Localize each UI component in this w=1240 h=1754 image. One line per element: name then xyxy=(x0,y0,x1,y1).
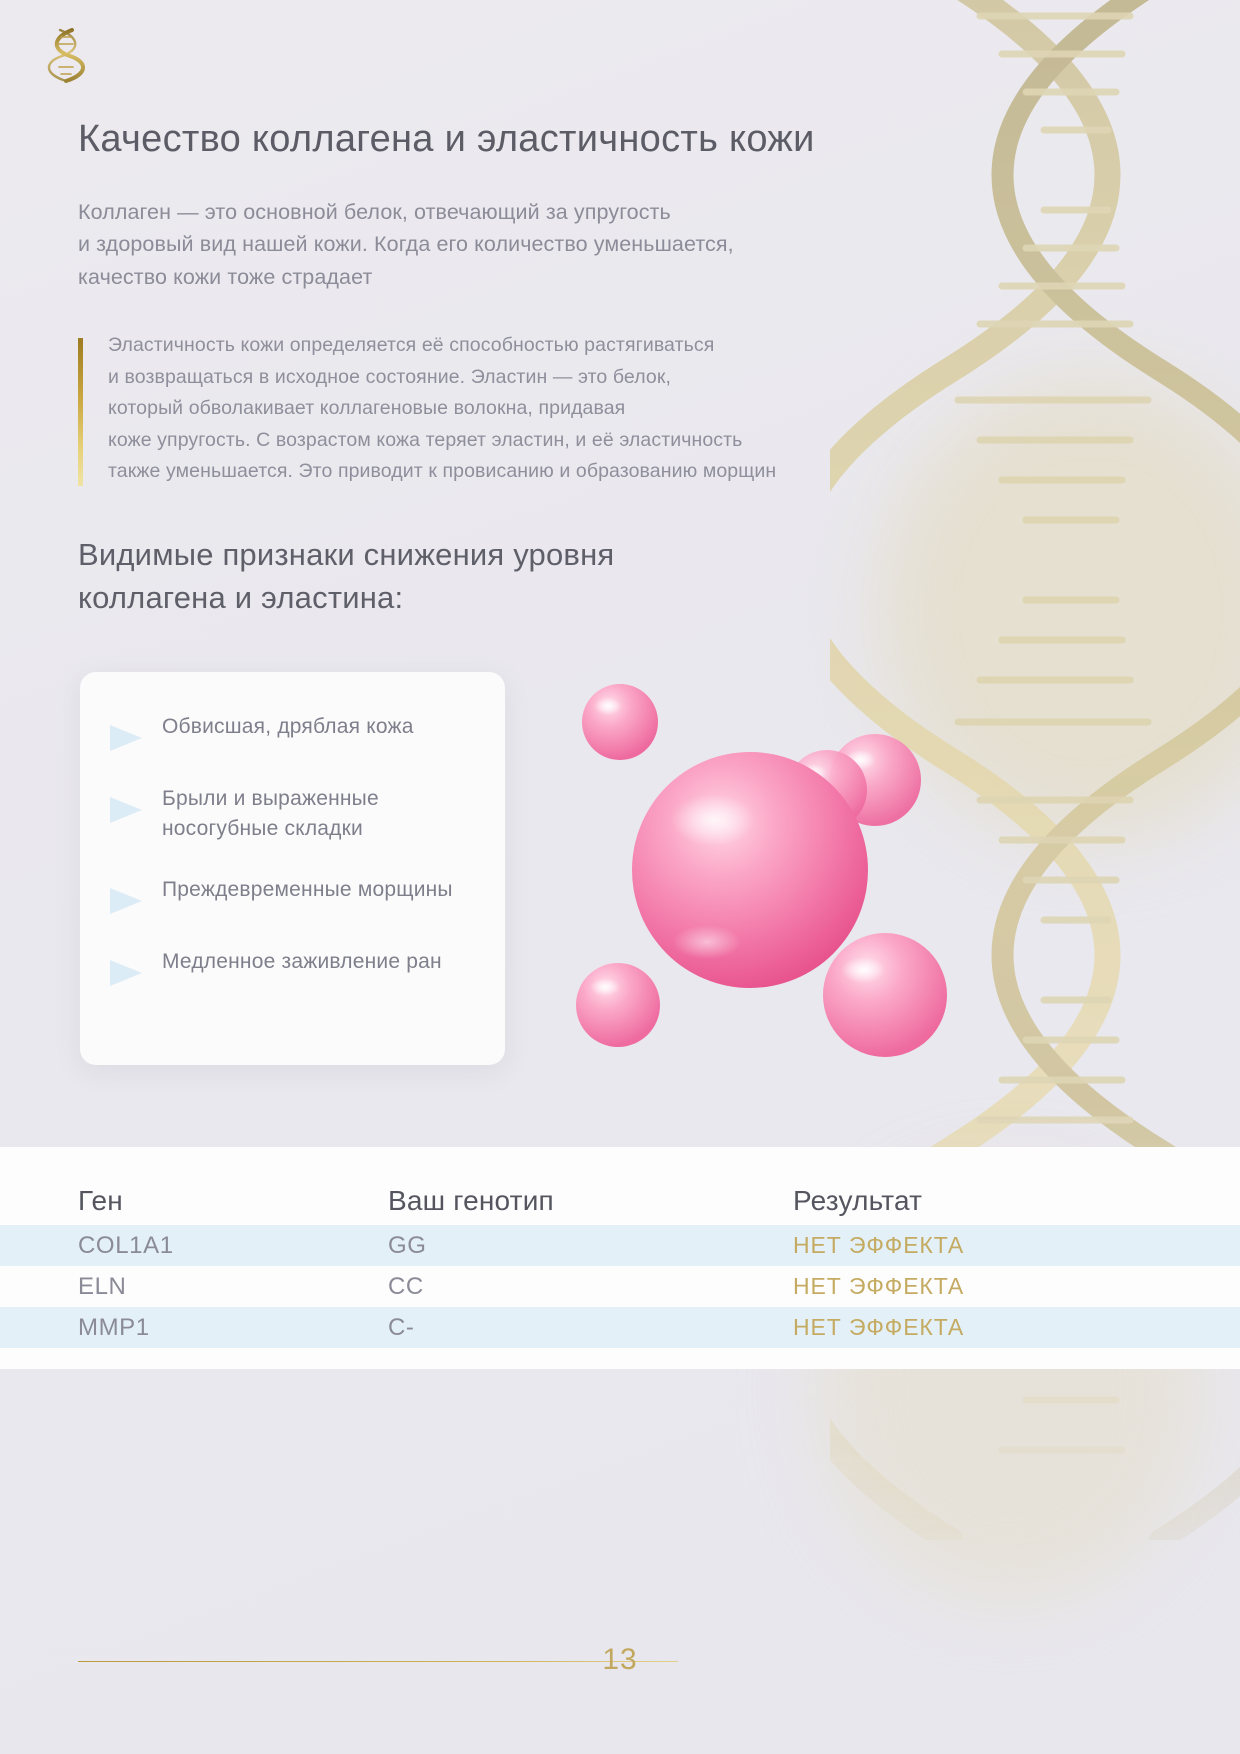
signs-card: Обвисшая, дряблая кожа Брыли и выраженны… xyxy=(80,672,505,1065)
lead-paragraph: Коллаген — это основной белок, отвечающи… xyxy=(78,196,978,293)
quote-line: Эластичность кожи определяется её способ… xyxy=(108,330,1038,362)
cell-result: НЕТ ЭФФЕКТА xyxy=(793,1314,1173,1341)
list-item-label: Брыли и выраженные носогубные складки xyxy=(162,780,479,845)
table-row: COL1A1 GG НЕТ ЭФФЕКТА xyxy=(0,1225,1240,1266)
cell-gene: COL1A1 xyxy=(78,1232,388,1260)
quote-line: также уменьшается. Это приводит к провис… xyxy=(108,456,1038,488)
quote-line: который обволакивает коллагеновые волокн… xyxy=(108,393,1038,425)
list-item: Преждевременные морщины xyxy=(106,871,479,917)
list-item: Медленное заживление ран xyxy=(106,943,479,989)
page-number: 13 xyxy=(0,1643,1240,1677)
list-item-label: Преждевременные морщины xyxy=(162,871,453,905)
page-canvas: Качество коллагена и эластичность кожи К… xyxy=(0,0,1240,1754)
triangle-right-icon xyxy=(106,794,146,826)
cell-genotype: GG xyxy=(388,1232,793,1260)
quote-line: коже упругость. С возрастом кожа теряет … xyxy=(108,425,1038,457)
table-row: ELN CC НЕТ ЭФФЕКТА xyxy=(0,1266,1240,1307)
column-header-genotype: Ваш генотип xyxy=(388,1185,793,1217)
triangle-right-icon xyxy=(106,885,146,917)
pink-collagen-bubbles-illustration xyxy=(555,670,1025,1090)
quote-accent-bar xyxy=(78,338,83,486)
page-title: Качество коллагена и эластичность кожи xyxy=(78,117,1028,163)
signs-section-heading: Видимые признаки снижения уровня коллаге… xyxy=(78,533,868,620)
list-item-label: Обвисшая, дряблая кожа xyxy=(162,708,414,742)
lead-line: Коллаген — это основной белок, отвечающи… xyxy=(78,196,978,228)
cell-gene: MMP1 xyxy=(78,1314,388,1342)
lead-line: и здоровый вид нашей кожи. Когда его кол… xyxy=(78,228,978,260)
quote-text: Эластичность кожи определяется её способ… xyxy=(108,330,1038,488)
cell-gene: ELN xyxy=(78,1273,388,1301)
column-header-gene: Ген xyxy=(78,1185,388,1217)
table-header-row: Ген Ваш генотип Результат xyxy=(0,1147,1240,1225)
dna-helix-logo-icon xyxy=(38,24,94,86)
triangle-right-icon xyxy=(106,722,146,754)
quote-line: и возвращаться в исходное состояние. Эла… xyxy=(108,362,1038,394)
genotype-results-table: Ген Ваш генотип Результат COL1A1 GG НЕТ … xyxy=(0,1147,1240,1369)
quote-block: Эластичность кожи определяется её способ… xyxy=(78,330,1038,488)
cell-result: НЕТ ЭФФЕКТА xyxy=(793,1273,1173,1300)
cell-genotype: C- xyxy=(388,1314,793,1342)
list-item: Обвисшая, дряблая кожа xyxy=(106,708,479,754)
signs-heading-line: Видимые признаки снижения уровня xyxy=(78,533,868,576)
table-row: MMP1 C- НЕТ ЭФФЕКТА xyxy=(0,1307,1240,1348)
cell-result: НЕТ ЭФФЕКТА xyxy=(793,1232,1173,1259)
column-header-result: Результат xyxy=(793,1185,1173,1217)
lead-line: качество кожи тоже страдает xyxy=(78,261,978,293)
list-item-label: Медленное заживление ран xyxy=(162,943,442,977)
cell-genotype: CC xyxy=(388,1273,793,1301)
triangle-right-icon xyxy=(106,957,146,989)
list-item: Брыли и выраженные носогубные складки xyxy=(106,780,479,845)
signs-heading-line: коллагена и эластина: xyxy=(78,576,868,619)
